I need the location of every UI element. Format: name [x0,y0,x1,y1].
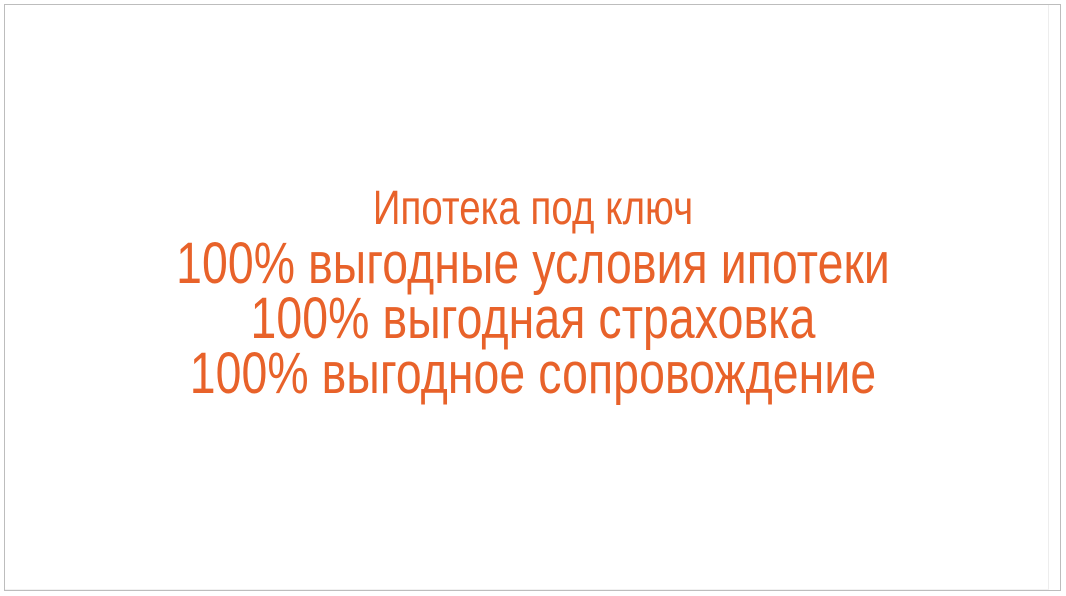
headline-line-2: 100% выгодные условия ипотеки [126,236,940,291]
headline-block: Ипотека под ключ 100% выгодные условия и… [0,181,1066,401]
headline-line-3: 100% выгодная страховка [126,291,940,346]
headline-line-4: 100% выгодное сопровождение [126,346,940,401]
slide-canvas: Ипотека под ключ 100% выгодные условия и… [0,0,1066,596]
headline-line-1: Ипотека под ключ [126,181,940,236]
